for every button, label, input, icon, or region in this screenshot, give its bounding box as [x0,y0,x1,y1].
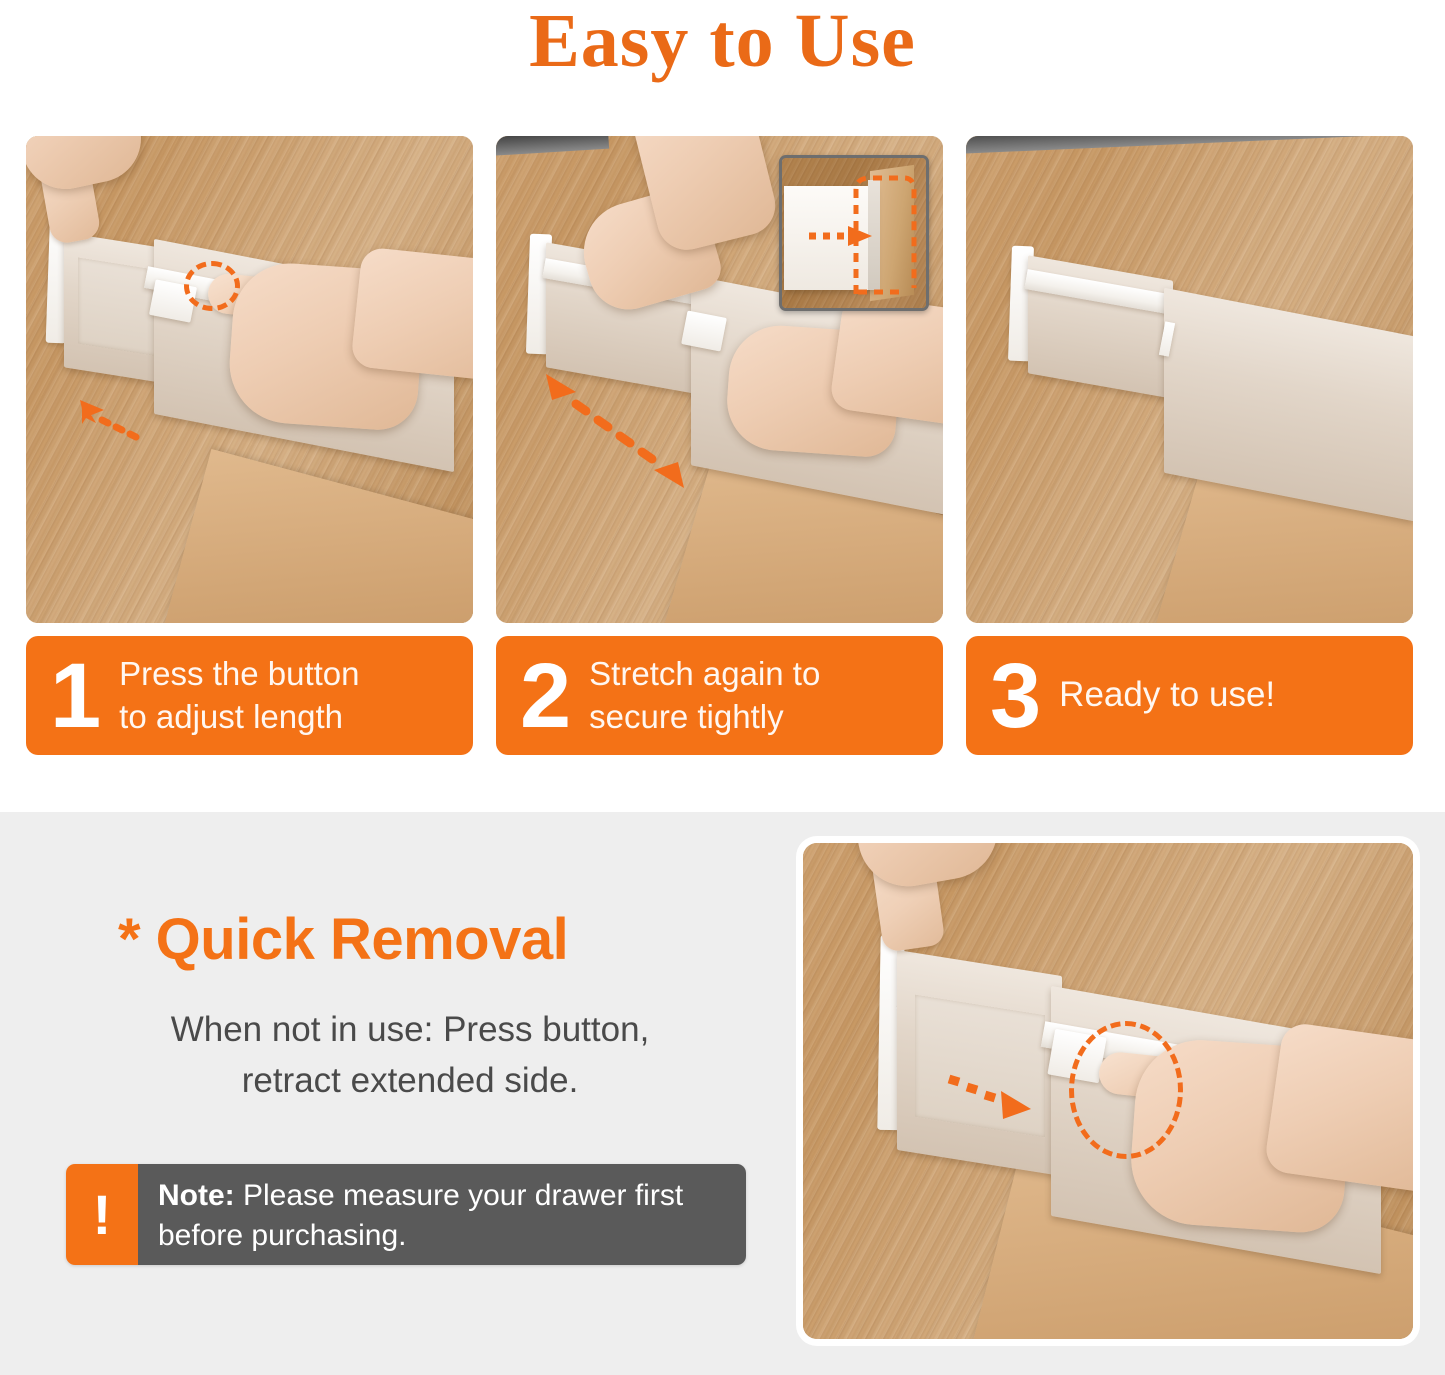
inset-closeup-panel [779,155,929,311]
step-1-number: 1 [50,650,99,742]
step-1-photo [26,136,473,623]
step-2-line1: Stretch again to [589,653,933,695]
step-1-line1: Press the button [119,653,463,695]
step-1-text: Press the button to adjust length [119,653,463,737]
note-label: Note: [158,1179,235,1212]
quick-removal-photo [803,843,1413,1339]
note-text: Note: Please measure your drawer first b… [138,1164,746,1265]
inset-dashed-outline [842,166,922,301]
exclamation-icon: ! [66,1164,138,1265]
easy-to-use-section: Easy to Use [0,0,1445,812]
note-body: Please measure your drawer first before … [158,1179,683,1252]
step-2-number: 2 [520,650,569,742]
step-card-3: 3 Ready to use! [966,136,1413,755]
step-card-1: 1 Press the button to adjust length [26,136,473,755]
quick-removal-heading: * Quick Removal [118,908,708,972]
button-highlight-circle [1069,1021,1183,1159]
step-2-text: Stretch again to secure tightly [589,653,933,737]
step-1-caption: 1 Press the button to adjust length [26,636,473,755]
double-arrow-icon [532,368,712,498]
step-card-2: 2 Stretch again to secure tightly [496,136,943,755]
right-forearm [350,246,473,385]
step-2-photo [496,136,943,623]
arrow-left-icon [74,396,144,444]
right-forearm [829,293,943,429]
divider-button-tab [681,310,727,351]
step-3-caption: 3 Ready to use! [966,636,1413,755]
quick-removal-body-line2: retract extended side. [80,1056,740,1107]
step-2-caption: 2 Stretch again to secure tightly [496,636,943,755]
page-title: Easy to Use [0,2,1445,82]
step-3-text: Ready to use! [1059,673,1403,718]
quick-removal-body: When not in use: Press button, retract e… [80,1005,740,1107]
quick-removal-body-line1: When not in use: Press button, [80,1005,740,1056]
button-highlight-circle [184,261,240,311]
step-3-line1: Ready to use! [1059,673,1403,718]
step-3-photo [966,136,1413,623]
right-forearm [1263,1021,1413,1195]
arrow-right-icon [945,1071,1037,1129]
note-bar: ! Note: Please measure your drawer first… [66,1164,746,1265]
step-2-line2: secure tightly [589,696,933,738]
step-3-number: 3 [990,650,1039,742]
step-1-line2: to adjust length [119,696,463,738]
